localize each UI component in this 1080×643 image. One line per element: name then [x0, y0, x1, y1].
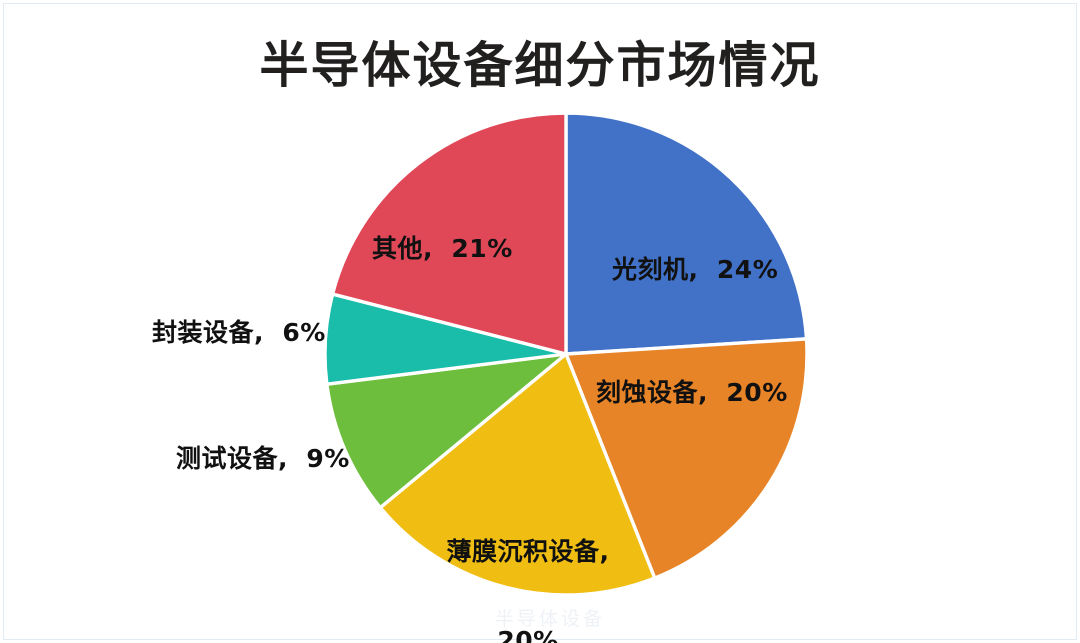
pie-label-others: 其他, 21% — [372, 234, 513, 264]
pie-label-testing: 测试设备, 9% — [176, 444, 350, 474]
pie-label-packaging: 封装设备, 6% — [152, 318, 326, 348]
pie-slice[interactable] — [566, 113, 807, 354]
watermark: 半导体设备 — [430, 604, 670, 630]
pie-label-etching: 刻蚀设备, 20% — [596, 378, 788, 408]
pie-label-lithography: 光刻机, 24% — [612, 255, 778, 285]
pie-label-deposition-line1: 薄膜沉积设备, — [428, 537, 628, 567]
chart-page: 半导体设备细分市场情况 光刻机, 24% 刻蚀设备, 20% 薄膜沉积设备, 2… — [0, 0, 1080, 643]
